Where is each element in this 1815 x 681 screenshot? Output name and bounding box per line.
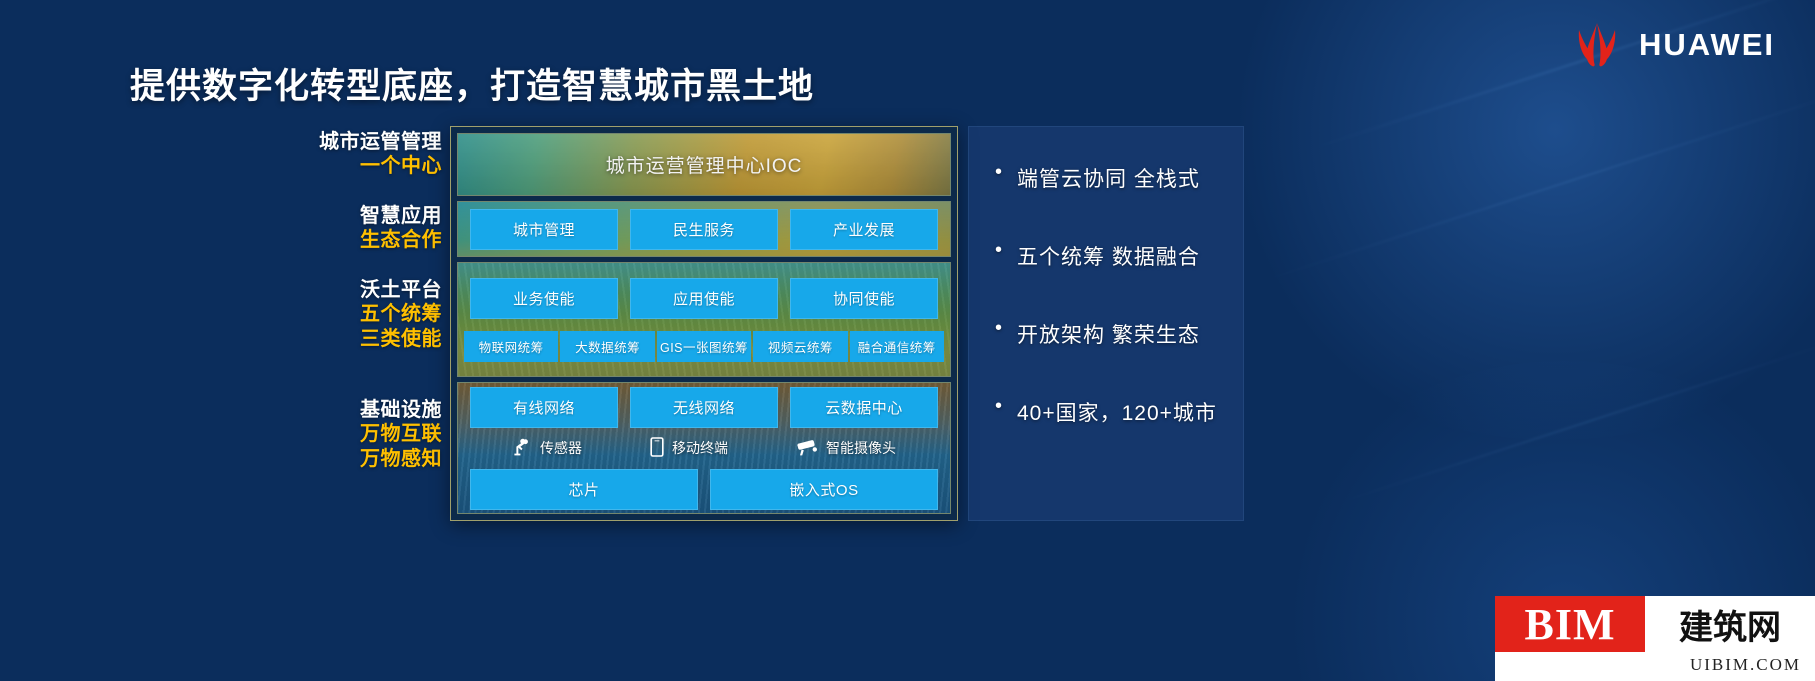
label-title: 智慧应用 <box>300 204 442 228</box>
page-title: 提供数字化转型底座，打造智慧城市黑土地 <box>130 58 814 109</box>
chip-os-row: 芯片 嵌入式OS <box>458 469 950 510</box>
chip-network[interactable]: 云数据中心 <box>790 387 938 428</box>
device-sensor: 传感器 <box>512 437 582 460</box>
label-title: 城市运管管理 <box>300 130 442 154</box>
layer-label-column: 城市运管管理 一个中心 智慧应用 生态合作 沃土平台 五个统筹 三类使能 基础设… <box>300 126 442 521</box>
network-row: 有线网络 无线网络 云数据中心 <box>458 387 950 428</box>
label-group-infrastructure: 基础设施 万物互联 万物感知 <box>300 398 442 471</box>
highlight-item: 40+国家，120+城市 <box>995 397 1243 427</box>
chip-silicon[interactable]: 芯片 <box>470 469 698 510</box>
huawei-logo: HUAWEI <box>1569 20 1775 70</box>
huawei-flower-logo-icon <box>1569 20 1625 70</box>
platform-enable-row: 业务使能 应用使能 协同使能 <box>458 278 950 319</box>
band-platform: 业务使能 应用使能 协同使能 物联网统筹 大数据统筹 GIS一张图统筹 视频云统… <box>457 262 951 377</box>
chip-app[interactable]: 民生服务 <box>630 209 778 250</box>
background-streak <box>1342 340 1815 503</box>
device-label: 智能摄像头 <box>826 438 896 458</box>
sensor-robot-icon <box>512 437 532 460</box>
chip-enable[interactable]: 协同使能 <box>790 278 938 319</box>
chip-embedded-os[interactable]: 嵌入式OS <box>710 469 938 510</box>
watermark-url: UIBIM.COM <box>1495 652 1815 681</box>
label-sub-one: 五个统筹 <box>300 302 442 326</box>
chip-coordination[interactable]: 大数据统筹 <box>560 331 654 362</box>
device-label: 传感器 <box>540 438 582 458</box>
highlight-item: 五个统筹 数据融合 <box>995 241 1243 271</box>
label-title: 沃土平台 <box>300 278 442 302</box>
chip-network[interactable]: 有线网络 <box>470 387 618 428</box>
chip-network[interactable]: 无线网络 <box>630 387 778 428</box>
chip-coordination[interactable]: 融合通信统筹 <box>850 331 944 362</box>
slide-canvas: HUAWEI 提供数字化转型底座，打造智慧城市黑土地 城市运管管理 一个中心 智… <box>0 0 1815 681</box>
app-chip-row: 城市管理 民生服务 产业发展 <box>458 209 950 250</box>
label-sub-two: 三类使能 <box>300 327 442 351</box>
highlights-list: 端管云协同 全栈式 五个统筹 数据融合 开放架构 繁荣生态 40+国家，120+… <box>969 127 1243 427</box>
mobile-phone-icon <box>650 437 664 460</box>
ioc-title: 城市运营管理中心IOC <box>606 151 803 178</box>
label-sub-one: 生态合作 <box>300 228 442 252</box>
device-icon-row: 传感器 移动终端 <box>458 437 950 460</box>
chip-app[interactable]: 产业发展 <box>790 209 938 250</box>
label-group-ioc: 城市运管管理 一个中心 <box>300 130 442 179</box>
bim-watermark: BIM 建筑网 UIBIM.COM <box>1495 596 1815 681</box>
band-smart-applications: 城市管理 民生服务 产业发展 <box>457 201 951 257</box>
chip-app[interactable]: 城市管理 <box>470 209 618 250</box>
label-sub-two: 万物感知 <box>300 447 442 471</box>
background-streak <box>1265 81 1815 281</box>
chip-coordination[interactable]: 物联网统筹 <box>464 331 558 362</box>
device-camera: 智能摄像头 <box>796 437 896 460</box>
chip-enable[interactable]: 应用使能 <box>630 278 778 319</box>
highlight-item: 端管云协同 全栈式 <box>995 163 1243 193</box>
highlight-item: 开放架构 繁荣生态 <box>995 319 1243 349</box>
label-group-platform: 沃土平台 五个统筹 三类使能 <box>300 278 442 351</box>
platform-coordination-row: 物联网统筹 大数据统筹 GIS一张图统筹 视频云统筹 融合通信统筹 <box>458 331 950 362</box>
camera-icon <box>796 437 818 460</box>
band-ioc: 城市运营管理中心IOC <box>457 133 951 196</box>
watermark-bim-text: BIM <box>1495 596 1645 652</box>
huawei-wordmark: HUAWEI <box>1639 27 1775 63</box>
chip-coordination[interactable]: GIS一张图统筹 <box>657 331 751 362</box>
device-mobile: 移动终端 <box>650 437 728 460</box>
architecture-stack: 城市运营管理中心IOC 城市管理 民生服务 产业发展 业务使能 应用使能 <box>450 126 958 521</box>
label-group-apps: 智慧应用 生态合作 <box>300 204 442 253</box>
chip-coordination[interactable]: 视频云统筹 <box>753 331 847 362</box>
highlights-panel: 端管云协同 全栈式 五个统筹 数据融合 开放架构 繁荣生态 40+国家，120+… <box>968 126 1244 521</box>
label-sub-one: 一个中心 <box>300 154 442 178</box>
label-sub-one: 万物互联 <box>300 422 442 446</box>
watermark-cn-text: 建筑网 <box>1645 596 1815 652</box>
device-label: 移动终端 <box>672 438 728 458</box>
label-title: 基础设施 <box>300 398 442 422</box>
chip-enable[interactable]: 业务使能 <box>470 278 618 319</box>
band-infrastructure: 有线网络 无线网络 云数据中心 传感器 <box>457 382 951 514</box>
